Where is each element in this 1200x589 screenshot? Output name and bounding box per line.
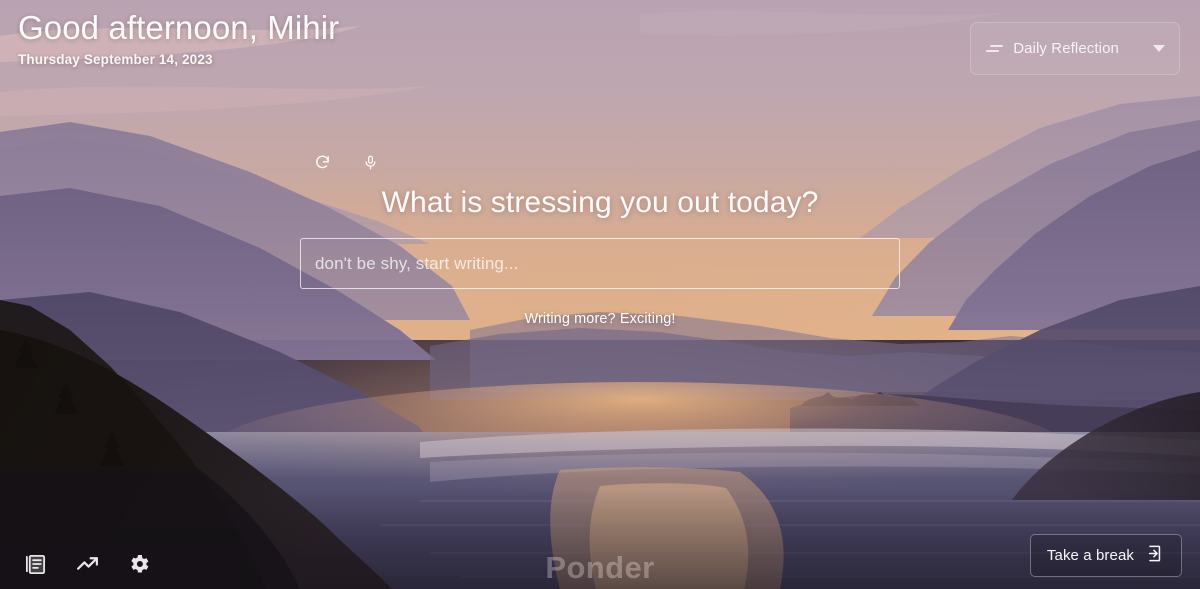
top-bar: Good afternoon, Mihir Thursday September… [0, 0, 1200, 92]
page-title: Good afternoon, Mihir [18, 10, 339, 47]
journal-icon[interactable] [22, 551, 48, 577]
bottom-toolbar [22, 551, 152, 577]
gear-icon[interactable] [126, 551, 152, 577]
mode-selector-value: Daily Reflection [1013, 40, 1119, 57]
brand-watermark: Ponder [0, 550, 1200, 586]
journal-input[interactable]: don't be shy, start writing... [300, 238, 900, 289]
chevron-down-icon [1153, 45, 1165, 52]
encouragement-text: Writing more? Exciting! [524, 311, 675, 327]
journal-input-placeholder: don't be shy, start writing... [315, 254, 518, 274]
ponder-journal-app: Good afternoon, Mihir Thursday September… [0, 0, 1200, 589]
sliders-icon [986, 45, 1003, 52]
trending-up-icon[interactable] [74, 551, 100, 577]
take-a-break-label: Take a break [1047, 547, 1134, 564]
prompt-tools [300, 150, 900, 174]
exit-icon [1146, 544, 1165, 567]
journal-prompt: What is stressing you out today? [382, 186, 819, 220]
current-date: Thursday September 14, 2023 [18, 52, 339, 67]
refresh-prompt-icon[interactable] [311, 150, 333, 174]
mode-selector-dropdown[interactable]: Daily Reflection [970, 22, 1180, 75]
greeting-block: Good afternoon, Mihir Thursday September… [18, 10, 339, 67]
journal-entry-area: What is stressing you out today? don't b… [0, 150, 1200, 327]
microphone-icon[interactable] [359, 150, 381, 174]
take-a-break-button[interactable]: Take a break [1030, 534, 1182, 577]
